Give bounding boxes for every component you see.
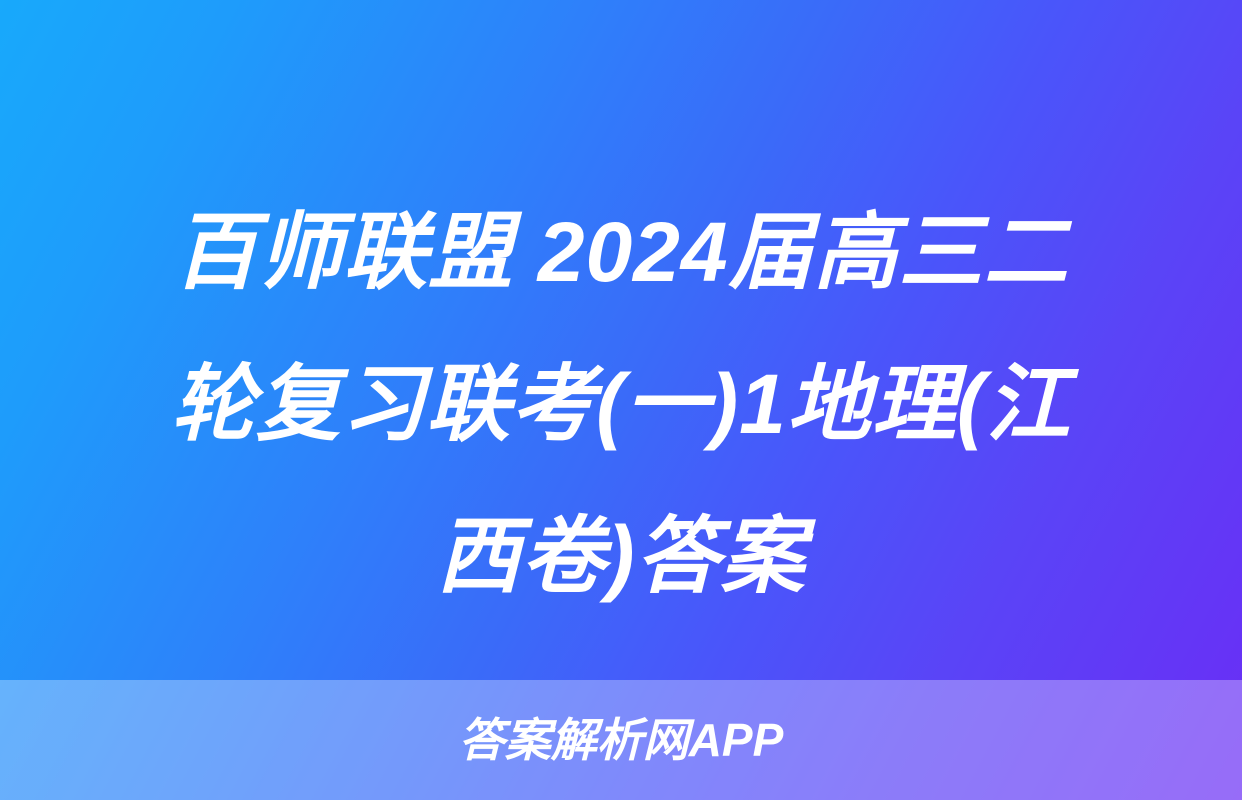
title-line-1: 百师联盟 2024届高三二 xyxy=(56,176,1186,328)
poster-canvas: 百师联盟 2024届高三二 轮复习联考(一)1地理(江 西卷)答案 答案解析网A… xyxy=(0,0,1242,800)
watermark-label: 答案解析网APP xyxy=(459,717,784,763)
title-line-2: 轮复习联考(一)1地理(江 xyxy=(56,328,1186,480)
title-line-3: 西卷)答案 xyxy=(56,480,1186,632)
page-title: 百师联盟 2024届高三二 轮复习联考(一)1地理(江 西卷)答案 xyxy=(0,176,1242,632)
watermark-band: 答案解析网APP xyxy=(0,680,1242,800)
